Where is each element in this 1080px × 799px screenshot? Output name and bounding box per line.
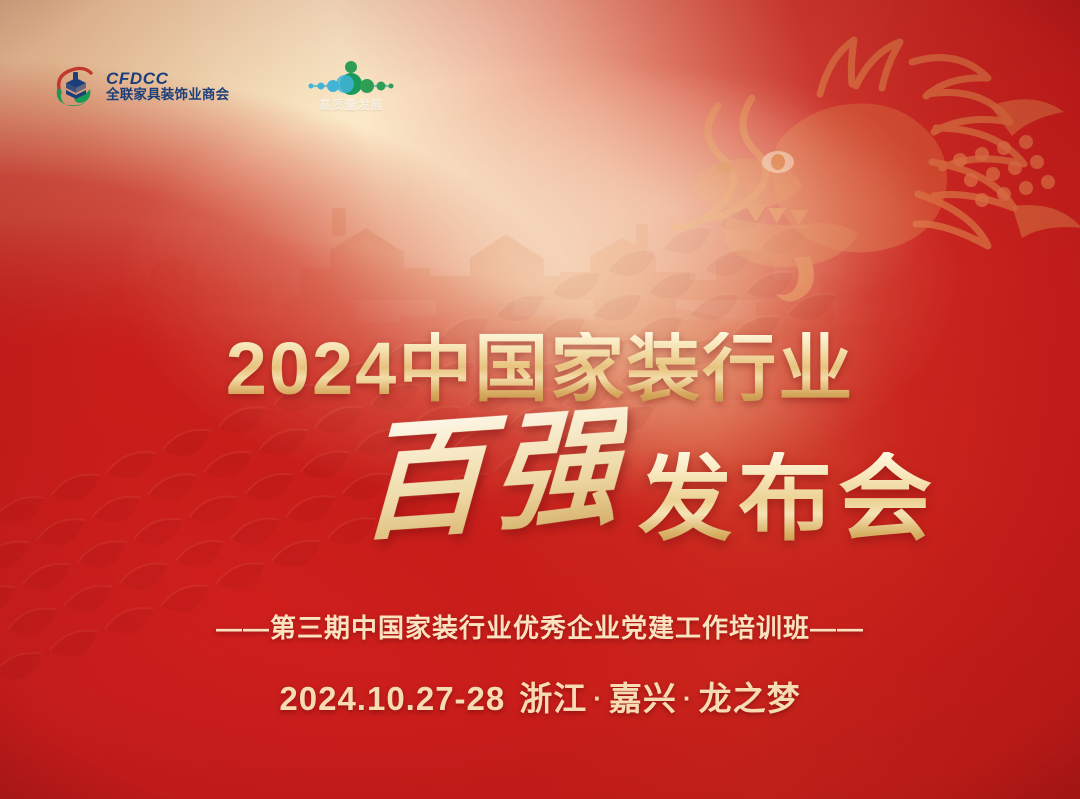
event-city: 嘉兴 bbox=[609, 680, 677, 717]
event-venue: 龙之梦 bbox=[699, 680, 801, 717]
stacked-furniture-mark-icon bbox=[52, 63, 98, 109]
logo-bar: CFDCC 全联家具装饰业商会 高质量发展 bbox=[52, 58, 401, 114]
logo-cfdcc[interactable]: CFDCC 全联家具装饰业商会 bbox=[52, 63, 229, 109]
location-separator-2: · bbox=[677, 683, 699, 713]
event-province: 浙江 bbox=[519, 680, 587, 717]
headline-event-type: 发布会 bbox=[638, 452, 938, 546]
logo-node-network[interactable]: 高质量发展 bbox=[301, 58, 401, 114]
headline-calligraphy: 百强 bbox=[356, 402, 628, 549]
date-location-line: 2024.10.27-28浙江·嘉兴·龙之梦 bbox=[0, 672, 1080, 720]
location-separator-1: · bbox=[587, 683, 609, 713]
logo-cfdcc-chinese: 全联家具装饰业商会 bbox=[106, 88, 229, 103]
event-poster: CFDCC 全联家具装饰业商会 高质量发展 2024中国家装行业 bbox=[0, 0, 1080, 799]
logo-node-subtext: 高质量发展 bbox=[301, 96, 401, 113]
event-date: 2024.10.27-28 bbox=[279, 680, 505, 717]
sub-title: ——第三期中国家装行业优秀企业党建工作培训班—— bbox=[0, 608, 1080, 645]
logo-cfdcc-english: CFDCC bbox=[106, 70, 229, 88]
logo-cfdcc-words: CFDCC 全联家具装饰业商会 bbox=[106, 70, 229, 103]
headline-main-line: 2024中国家装行业 bbox=[0, 332, 1080, 406]
